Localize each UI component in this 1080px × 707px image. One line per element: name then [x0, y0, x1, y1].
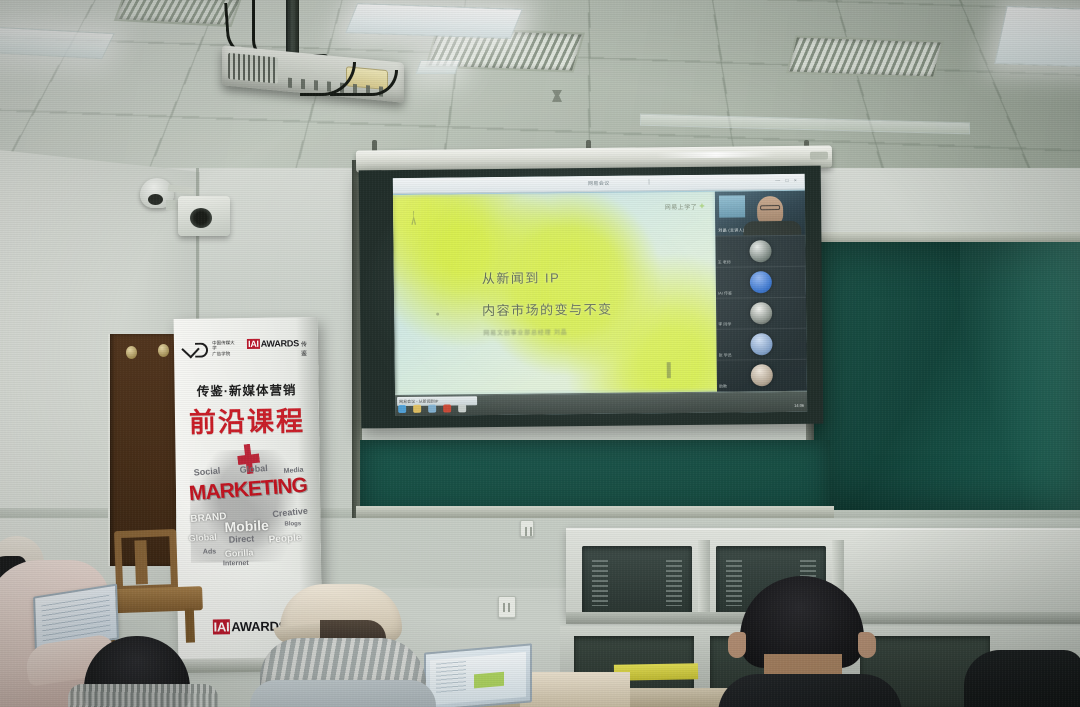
ad-school-logo-icon: [184, 342, 206, 356]
vent-grille-icon: [592, 560, 608, 606]
iai-logo-red: IAI: [247, 338, 260, 348]
wordcloud-word: Direct: [228, 533, 254, 544]
wechat-icon[interactable]: [443, 404, 451, 412]
chair-leg: [185, 608, 195, 642]
participant-tile[interactable]: 张 学员: [716, 328, 806, 360]
slide-title-line-1: 从新闻到 IP: [482, 267, 561, 287]
self-view-name: 刘晶 (主讲人): [718, 227, 744, 233]
chalkboard-glare: [960, 242, 1080, 510]
avatar: [750, 271, 772, 293]
fluorescent-light-panel: [994, 6, 1080, 68]
avatar: [750, 302, 772, 324]
housing-end-cap: [810, 152, 828, 160]
background-window: [719, 195, 745, 217]
power-outlet-icon: [520, 520, 534, 537]
windows-start-icon[interactable]: [398, 405, 406, 413]
participant-tile[interactable]: 王 老师: [715, 235, 805, 267]
classroom-photo-scene: 网易会议 | — □ × 网易上学了 + 从新闻到 IP 内容市场的变与不变 网…: [0, 0, 1080, 707]
desk-divider: [698, 540, 710, 622]
hvac-vent-grille-icon: [786, 35, 944, 78]
projector-vent: [228, 53, 278, 84]
wordcloud-word: Global: [239, 463, 268, 475]
meeting-icon[interactable]: [458, 404, 466, 412]
window-controls[interactable]: — □ ×: [775, 178, 799, 184]
windows-taskbar[interactable]: 网易会议 - 从新闻到IP 14:06: [395, 391, 807, 416]
chalkboard: [812, 242, 1080, 510]
wordcloud-word: People: [268, 532, 301, 545]
chair-slat: [134, 540, 148, 584]
ear: [858, 632, 876, 658]
projected-desktop-area: 网易会议 | — □ × 网易上学了 + 从新闻到 IP 内容市场的变与不变 网…: [393, 174, 807, 416]
participant-name: 张 学员: [719, 353, 732, 359]
wordcloud-word: Mobile: [224, 517, 269, 535]
school-line-1: 中国传媒大学: [212, 340, 235, 351]
door-knob-icon: [126, 346, 137, 359]
mid-desk-surface: [520, 672, 630, 707]
power-outlet-icon: [498, 596, 516, 618]
winter-coat: [250, 680, 436, 707]
fluorescent-light-panel: [0, 27, 115, 59]
window-title: 网易会议: [588, 180, 610, 187]
ad-school-logo-text: 中国传媒大学 广告学院: [212, 340, 237, 357]
presentation-slide: 网易上学了 + 从新闻到 IP 内容市场的变与不变 网易文创事业部总经理 刘晶: [393, 192, 717, 395]
video-conference-panel[interactable]: 刘晶 (主讲人) 王 老师 IAI 传鉴 李 同学: [715, 191, 807, 392]
slide-logo-plus-icon: +: [699, 201, 705, 211]
browser-icon[interactable]: [428, 405, 436, 413]
student-right: [712, 576, 902, 707]
student-mid-collar: [68, 684, 218, 707]
monitor-well: [582, 546, 692, 616]
wordcloud-word: Ads: [203, 548, 216, 555]
participant-tile[interactable]: 李 同学: [716, 297, 806, 329]
banner-logo-row: 中国传媒大学 广告学院 IAI AWARDS 传鉴: [184, 337, 308, 359]
wordcloud-word: Gorilla: [225, 547, 254, 558]
laptop-screen-content: [430, 652, 526, 705]
avatar: [750, 333, 772, 355]
wordcloud-word: Internet: [223, 560, 249, 567]
desktop-background: 网易会议 | — □ × 网易上学了 + 从新闻到 IP 内容市场的变与不变 网…: [393, 174, 807, 416]
slide-logo-text: 网易上学了: [665, 201, 698, 210]
projection-screen: 网易会议 | — □ × 网易上学了 + 从新闻到 IP 内容市场的变与不变 网…: [359, 166, 824, 429]
fluorescent-light-panel: [415, 60, 460, 74]
iai-logo-black: AWARDS: [261, 338, 299, 349]
folder-icon[interactable]: [413, 405, 421, 413]
laptop-highlight-block: [474, 672, 504, 689]
slide-decor-bar: [667, 362, 671, 378]
ear: [728, 632, 746, 658]
participant-tile[interactable]: IAI 传鉴: [716, 266, 806, 298]
self-view-tile[interactable]: 刘晶 (主讲人): [715, 191, 805, 236]
fluorescent-light-panel: [345, 3, 523, 39]
slide-title-line-2: 内容市场的变与不变: [482, 299, 613, 319]
vent-grille-icon: [666, 560, 682, 606]
participant-name: 李 同学: [718, 322, 731, 328]
glasses-icon: [760, 205, 780, 210]
avatar: [749, 240, 771, 262]
student-with-cap: [268, 584, 444, 707]
wall-speaker-icon: [178, 196, 230, 236]
participant-name: 助教: [719, 384, 727, 390]
slide-logo: 网易上学了 +: [665, 201, 705, 211]
dark-shirt: [718, 674, 902, 707]
presenter-body: [743, 221, 801, 236]
chalkboard-lower-rail: [356, 506, 834, 518]
taskbar-clock: 14:06: [794, 403, 804, 408]
slide-subtitle: 网易文创事业部总经理 刘晶: [483, 327, 567, 337]
door-knob-icon: [158, 344, 169, 357]
titlebar-mark: |: [648, 179, 650, 185]
avatar: [751, 364, 773, 386]
taskbar-icons[interactable]: [398, 404, 466, 413]
participant-tile[interactable]: 助教: [717, 359, 807, 391]
slide-decor-dot: [436, 313, 439, 316]
participant-name: IAI 传鉴: [718, 291, 732, 297]
student-far-right: [964, 650, 1080, 707]
footer-logo-red: IAI: [213, 619, 231, 634]
participant-name: 王 老师: [718, 260, 731, 266]
housing-glare: [656, 151, 776, 158]
school-line-2: 广告学院: [212, 351, 230, 356]
